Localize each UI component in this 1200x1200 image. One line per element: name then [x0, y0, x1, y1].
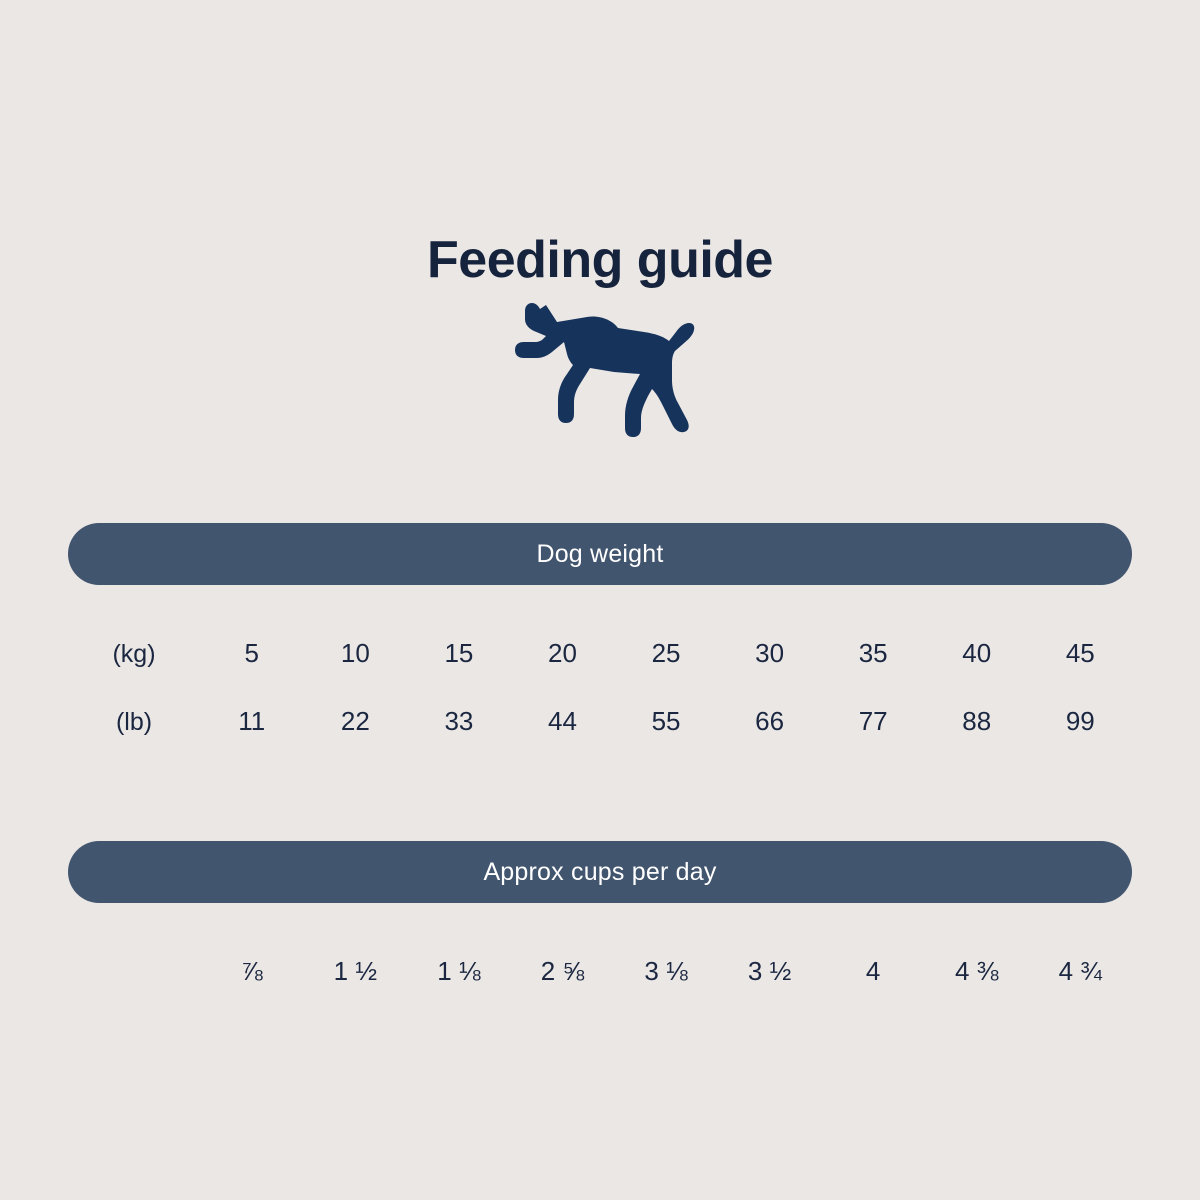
cell-kg-2: 10 — [304, 638, 408, 669]
cell-lb-3: 33 — [407, 706, 511, 737]
cell-kg-3: 15 — [407, 638, 511, 669]
cell-kg-6: 30 — [718, 638, 822, 669]
cell-kg-1: 5 — [200, 638, 304, 669]
cell-cups-3: 1 ⅛ — [407, 956, 511, 987]
cell-cups-9: 4 ¾ — [1029, 956, 1133, 987]
cell-lb-5: 55 — [614, 706, 718, 737]
table-row-cups: ⅞ 1 ½ 1 ⅛ 2 ⅝ 3 ⅛ 3 ½ 4 4 ⅜ 4 ¾ — [68, 956, 1132, 987]
cell-lb-6: 66 — [718, 706, 822, 737]
cell-lb-7: 77 — [821, 706, 925, 737]
row-cells-kg: 5 10 15 20 25 30 35 40 45 — [200, 638, 1132, 669]
dog-illustration — [0, 292, 1200, 444]
cell-kg-4: 20 — [511, 638, 615, 669]
cell-lb-4: 44 — [511, 706, 615, 737]
cell-lb-8: 88 — [925, 706, 1029, 737]
row-cells-lb: 11 22 33 44 55 66 77 88 99 — [200, 706, 1132, 737]
page-title: Feeding guide — [0, 231, 1200, 291]
cell-cups-5: 3 ⅛ — [614, 956, 718, 987]
cell-cups-1: ⅞ — [200, 956, 304, 987]
feeding-guide-page: Feeding guide Dog weight (kg) 5 10 15 20… — [0, 0, 1200, 1200]
section-header-approx-cups-per-day: Approx cups per day — [68, 841, 1132, 903]
cell-cups-2: 1 ½ — [304, 956, 408, 987]
cell-kg-7: 35 — [821, 638, 925, 669]
cell-lb-1: 11 — [200, 706, 304, 737]
cell-cups-7: 4 — [821, 956, 925, 987]
section-header-label: Approx cups per day — [483, 858, 716, 887]
table-row-lb: (lb) 11 22 33 44 55 66 77 88 99 — [68, 706, 1132, 737]
cell-cups-6: 3 ½ — [718, 956, 822, 987]
cell-kg-9: 45 — [1029, 638, 1133, 669]
dog-silhouette-icon — [494, 292, 706, 444]
cell-lb-9: 99 — [1029, 706, 1133, 737]
cell-kg-5: 25 — [614, 638, 718, 669]
row-label-lb: (lb) — [68, 708, 200, 737]
cell-kg-8: 40 — [925, 638, 1029, 669]
section-header-dog-weight: Dog weight — [68, 523, 1132, 585]
row-label-kg: (kg) — [68, 640, 200, 669]
cell-lb-2: 22 — [304, 706, 408, 737]
cell-cups-4: 2 ⅝ — [511, 956, 615, 987]
row-cells-cups: ⅞ 1 ½ 1 ⅛ 2 ⅝ 3 ⅛ 3 ½ 4 4 ⅜ 4 ¾ — [200, 956, 1132, 987]
cell-cups-8: 4 ⅜ — [925, 956, 1029, 987]
section-header-label: Dog weight — [536, 540, 663, 569]
table-row-kg: (kg) 5 10 15 20 25 30 35 40 45 — [68, 638, 1132, 669]
